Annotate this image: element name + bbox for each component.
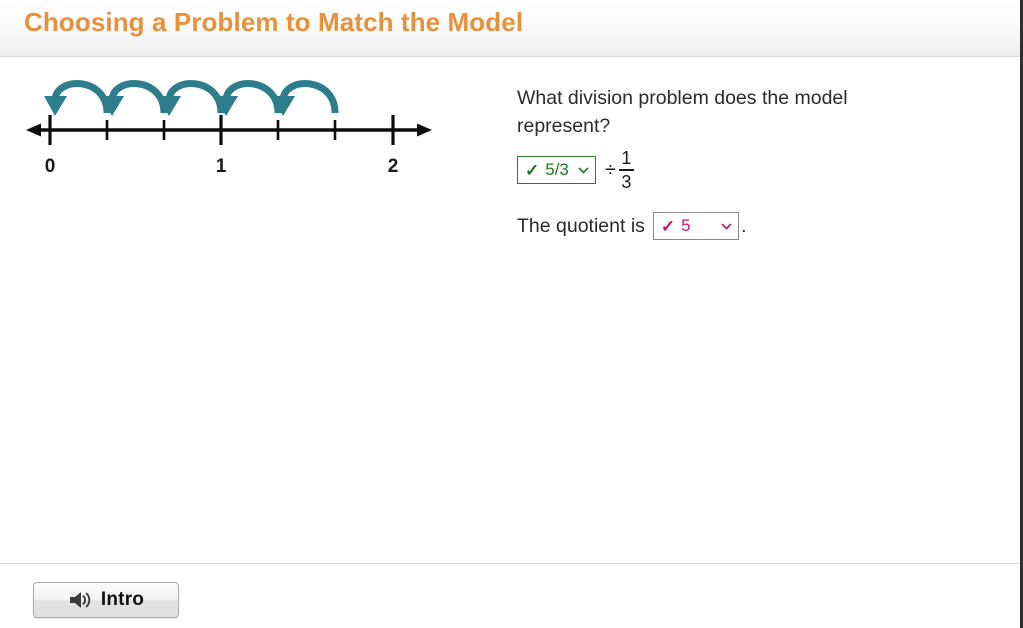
quotient-value: 5 — [681, 216, 707, 236]
quotient-period: . — [741, 215, 746, 238]
intro-button-label: Intro — [101, 589, 144, 611]
question-prompt: What division problem does the model rep… — [517, 84, 937, 140]
tick-label-1: 1 — [216, 156, 227, 178]
tick-label-2: 2 — [388, 156, 399, 178]
page-footer: Intro — [0, 564, 1020, 628]
intro-audio-button[interactable]: Intro — [33, 582, 179, 618]
speaker-icon — [68, 590, 101, 610]
division-expression: ✓ 5/3 ÷ 1 3 — [517, 150, 947, 190]
fraction-numerator: 1 — [619, 149, 633, 168]
correct-check-icon: ✓ — [661, 218, 675, 235]
page-header: Choosing a Problem to Match the Model — [0, 0, 1020, 57]
fraction-denominator: 3 — [619, 172, 633, 191]
page-title: Choosing a Problem to Match the Model — [24, 7, 523, 38]
axis-arrow-left — [26, 124, 41, 137]
axis-arrow-right — [417, 124, 432, 137]
lesson-page: Choosing a Problem to Match the Model — [0, 0, 1023, 628]
tick-label-0: 0 — [45, 156, 56, 178]
number-line-model: 0 1 2 — [14, 68, 444, 188]
divisor-fraction: 1 3 — [619, 149, 634, 191]
number-line-svg — [14, 68, 444, 188]
chevron-down-icon — [578, 165, 589, 176]
quotient-dropdown[interactable]: ✓ 5 — [653, 212, 739, 240]
question-panel: What division problem does the model rep… — [517, 84, 947, 240]
lesson-content: 0 1 2 What division problem does the mod… — [0, 58, 1020, 563]
correct-check-icon: ✓ — [525, 162, 539, 179]
fraction-bar — [619, 169, 634, 171]
dividend-dropdown[interactable]: ✓ 5/3 — [517, 156, 596, 184]
quotient-statement: The quotient is ✓ 5 . — [517, 212, 947, 240]
dividend-value: 5/3 — [545, 160, 569, 180]
jump-arrowheads — [44, 96, 295, 116]
division-operator: ÷ — [605, 159, 616, 182]
quotient-label: The quotient is — [517, 215, 645, 238]
chevron-down-icon — [721, 221, 732, 232]
